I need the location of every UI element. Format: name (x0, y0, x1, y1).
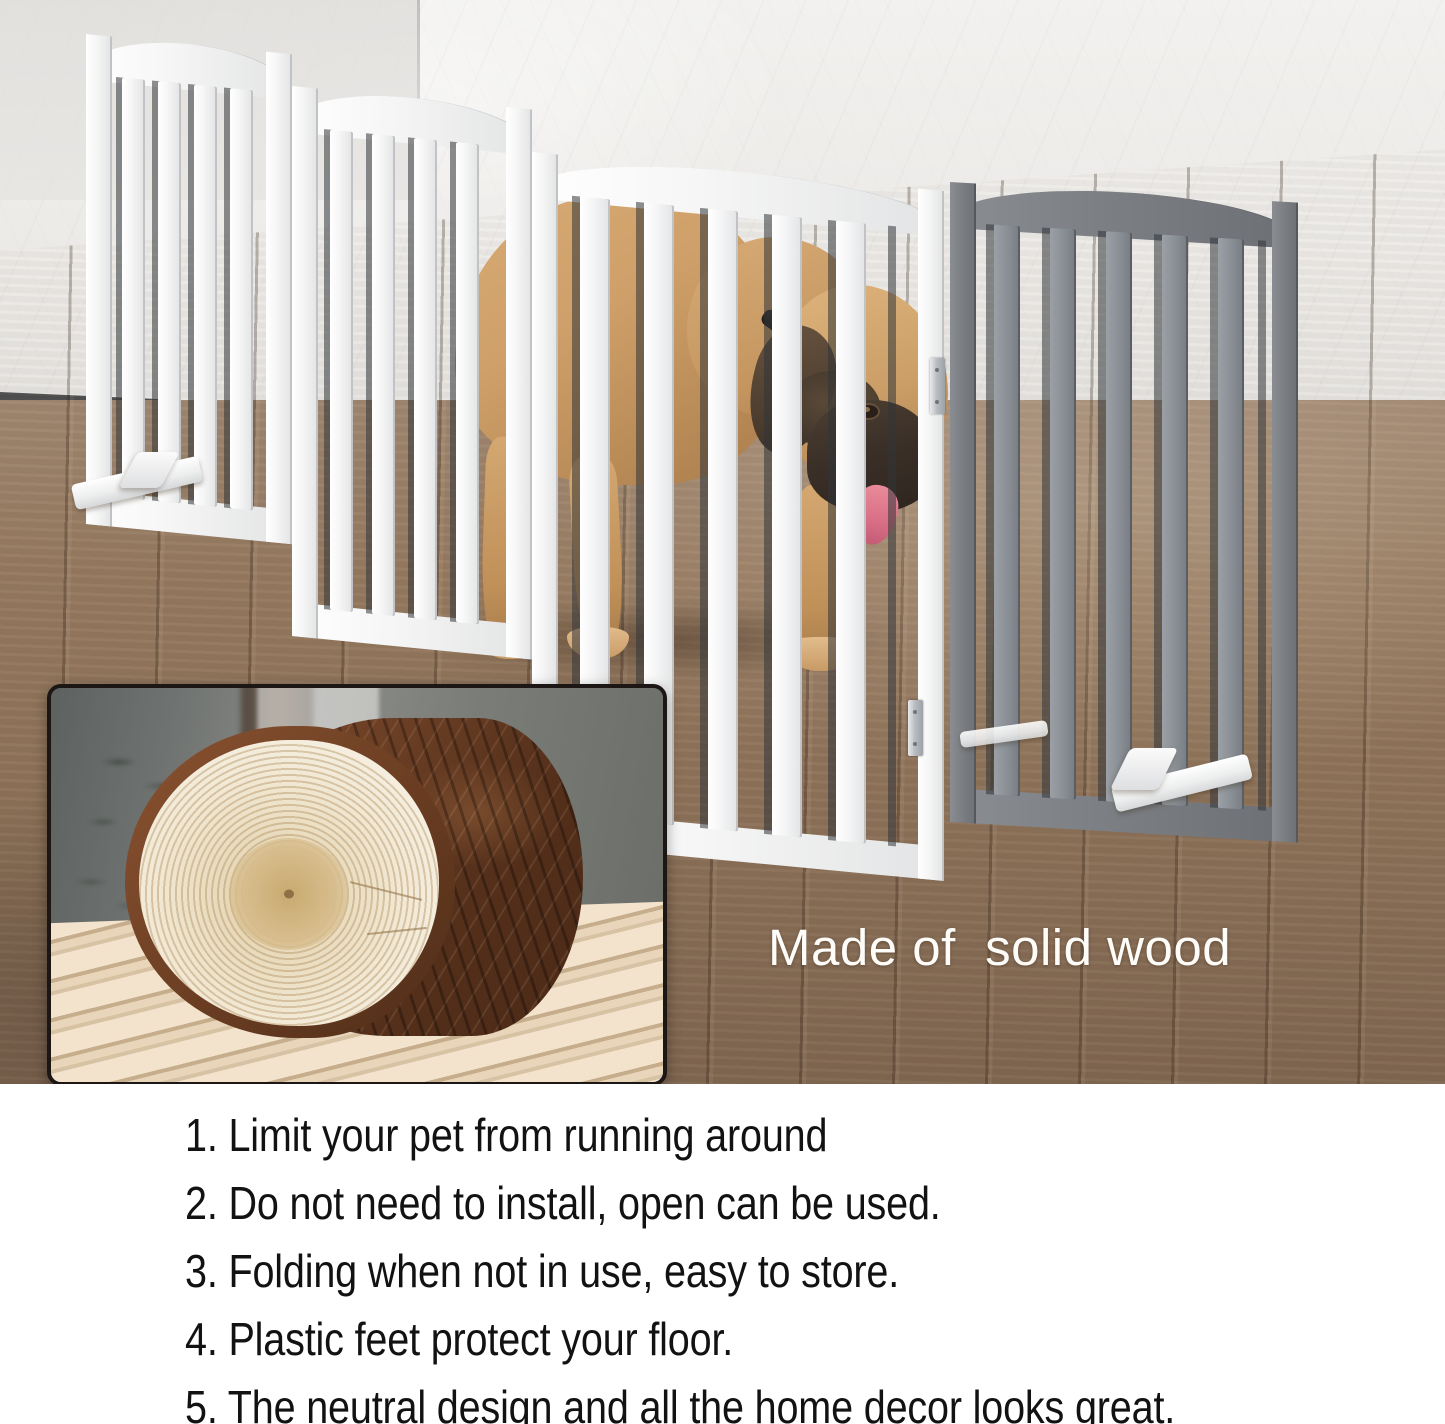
gate-hinge-bottom (908, 700, 923, 756)
gate-slat (194, 85, 217, 507)
panel-right-stile (918, 188, 944, 880)
product-marketing-image: Made of solid wood (0, 0, 1445, 1424)
panel-right-stile (506, 107, 532, 660)
made-of-solid-wood-caption: Made of solid wood (768, 918, 1231, 977)
slat-shadow (1098, 231, 1106, 801)
slat-shadow (764, 214, 772, 835)
panel-left-stile (950, 182, 976, 824)
feature-item-3: 3. Folding when not in use, easy to stor… (185, 1248, 899, 1294)
gate-slat (836, 221, 866, 844)
gate-slat (1218, 238, 1244, 810)
slat-shadow (828, 220, 836, 841)
gate-slat (158, 81, 181, 503)
gate-slat (1106, 231, 1132, 803)
feature-item-5: 5. The neutral design and all the home d… (185, 1384, 1175, 1424)
gate-slat (122, 78, 145, 500)
slat-shadow (1210, 237, 1218, 807)
panel-left-stile (86, 34, 112, 527)
slat-shadow (1154, 234, 1162, 804)
product-photo: Made of solid wood (0, 0, 1445, 1084)
slat-shadow (700, 208, 708, 829)
slat-shadow (888, 226, 896, 847)
panel-right-stile (266, 52, 292, 545)
gate-slat (330, 130, 353, 612)
panel-right-stile (1272, 201, 1298, 843)
gate-slat (414, 138, 437, 620)
slat-shadow (1258, 240, 1266, 810)
solid-wood-log-inset (47, 684, 667, 1084)
gate-slat (372, 134, 395, 616)
slat-shadow (986, 224, 994, 794)
slat-shadow (1042, 227, 1050, 797)
feature-item-2: 2. Do not need to install, open can be u… (185, 1180, 941, 1226)
gate-slat (1162, 235, 1188, 807)
log-cut-face (139, 740, 439, 1026)
gate-slat (708, 209, 738, 832)
gate-panel-2 (292, 86, 532, 660)
gate-slat (230, 88, 253, 510)
cut-log (113, 716, 583, 1046)
gate-slat (1050, 228, 1076, 800)
panel-left-stile (292, 86, 318, 639)
gate-slat (994, 225, 1020, 797)
feature-item-1: 1. Limit your pet from running around (185, 1112, 827, 1158)
feature-list: 1. Limit your pet from running around 2.… (0, 1084, 1445, 1424)
log-pith (284, 890, 294, 899)
gate-panel-4 (950, 182, 1298, 843)
feature-item-4: 4. Plastic feet protect your floor. (185, 1316, 733, 1362)
gate-slat (772, 215, 802, 838)
gate-slat (456, 142, 479, 624)
gate-hinge-top (930, 358, 945, 414)
